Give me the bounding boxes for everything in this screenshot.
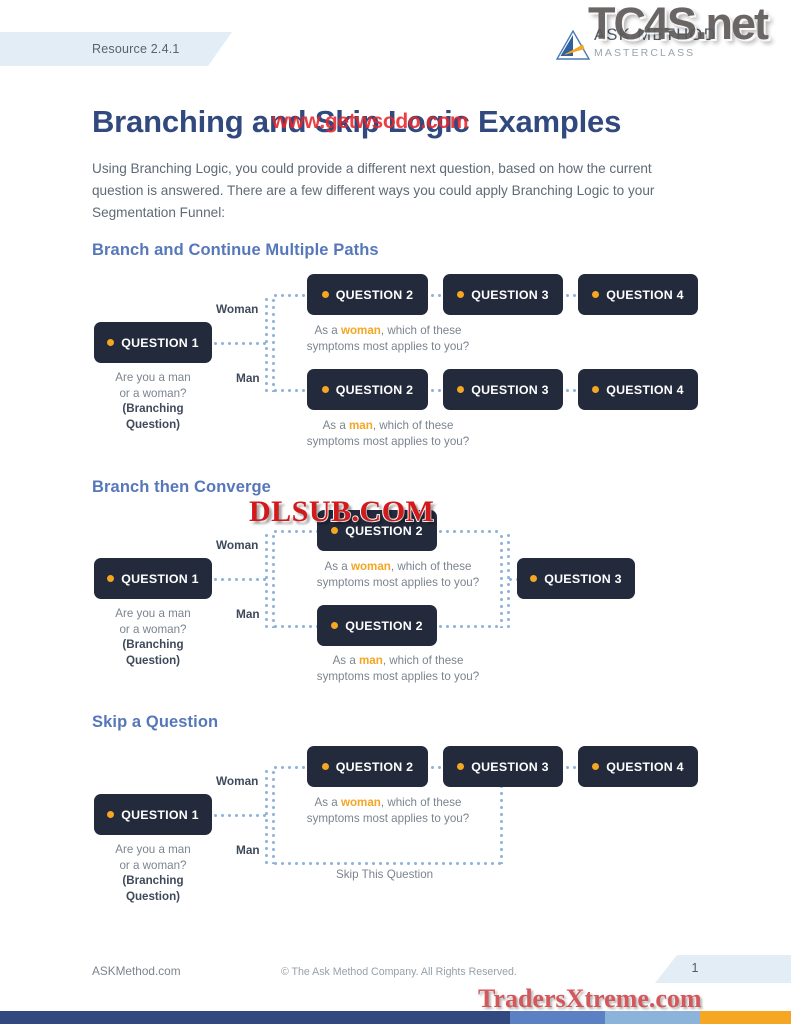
caption-highlight: woman (341, 324, 381, 337)
connector-q1-out-3 (212, 814, 267, 817)
caption-line-2: symptoms most applies to you? (317, 576, 479, 589)
question-box-q4-man-section1[interactable]: QUESTION 4 (578, 369, 698, 410)
question-box-q4-section3[interactable]: QUESTION 4 (578, 746, 698, 787)
connector-man-1 (272, 389, 308, 392)
question-box-q2-section3[interactable]: QUESTION 2 (307, 746, 428, 787)
question-box-label: QUESTION 1 (121, 336, 199, 350)
caption-branching-q1-section2: Are you a man or a woman? (Branching Que… (94, 606, 212, 668)
question-box-label: QUESTION 1 (121, 572, 199, 586)
connector-vertical-split-2 (265, 532, 268, 630)
connector-vertical-merge-2b (507, 532, 510, 630)
connector-q2-q3-3 (429, 766, 443, 769)
bullet-icon (331, 622, 338, 629)
caption-prefix: As a (333, 654, 359, 667)
document-page: Resource 2.4.1 ASK METHOD MASTERCLASS Br… (0, 0, 791, 1024)
connector-man-2 (272, 625, 317, 628)
connector-q2-man-merge-2 (437, 625, 502, 628)
skip-this-question-label: Skip This Question (336, 868, 433, 881)
caption-line-2: symptoms most applies to you? (307, 340, 469, 353)
section-heading-branch-converge: Branch then Converge (92, 478, 271, 497)
bullet-icon (530, 575, 537, 582)
caption-line-2: or a woman? (119, 387, 186, 400)
bullet-icon (322, 386, 329, 393)
bullet-icon (457, 386, 464, 393)
caption-line-2: or a woman? (119, 623, 186, 636)
caption-woman-section3: As a woman, which of these symptoms most… (288, 795, 488, 826)
footer-copyright: © The Ask Method Company. All Rights Res… (281, 966, 517, 978)
caption-line-3: (Branching (122, 638, 183, 651)
connector-q3-q4-man-1 (564, 389, 578, 392)
watermark-title-overlay: www.getwsodo.com (272, 110, 468, 134)
section-heading-skip-question: Skip a Question (92, 713, 218, 732)
question-box-label: QUESTION 2 (336, 760, 414, 774)
caption-line-3: (Branching (122, 402, 183, 415)
question-box-label: QUESTION 1 (121, 808, 199, 822)
connector-q2-q3-man-1 (429, 389, 443, 392)
question-box-label: QUESTION 4 (606, 383, 684, 397)
connector-vertical-split-1b (272, 297, 275, 392)
caption-highlight: woman (341, 796, 381, 809)
connector-skip-path-3 (272, 862, 504, 865)
caption-line-1: Are you a man (115, 843, 190, 856)
bullet-icon (107, 811, 114, 818)
question-box-label: QUESTION 4 (606, 760, 684, 774)
caption-line-4: Question) (126, 418, 180, 431)
question-box-label: QUESTION 3 (471, 760, 549, 774)
caption-line-2: symptoms most applies to you? (307, 435, 469, 448)
footer-site-label: ASKMethod.com (92, 964, 181, 978)
caption-prefix: As a (325, 560, 351, 573)
bullet-icon (457, 763, 464, 770)
question-box-q3-section2[interactable]: QUESTION 3 (517, 558, 635, 599)
bottom-bar-navy (0, 1011, 510, 1024)
caption-line-4: Question) (126, 654, 180, 667)
connector-q1-out-2 (212, 578, 267, 581)
watermark-middle: DLSUB.COM (249, 495, 434, 529)
question-box-q2-woman-section1[interactable]: QUESTION 2 (307, 274, 428, 315)
branch-label-woman-1: Woman (216, 302, 258, 316)
caption-highlight: man (349, 419, 373, 432)
question-box-q3-section3[interactable]: QUESTION 3 (443, 746, 563, 787)
connector-vertical-merge-2 (500, 533, 503, 628)
connector-q3-q4-3 (564, 766, 578, 769)
bullet-icon (107, 339, 114, 346)
caption-suffix: , which of these (381, 324, 462, 337)
question-box-q1-section3[interactable]: QUESTION 1 (94, 794, 212, 835)
branch-label-man-3: Man (236, 843, 260, 857)
connector-vertical-split-3 (265, 768, 268, 866)
connector-q2-woman-merge-2 (437, 530, 502, 533)
section-heading-branch-continue: Branch and Continue Multiple Paths (92, 241, 379, 260)
connector-q1-out-1 (212, 342, 267, 345)
caption-man-section2: As a man, which of these symptoms most a… (298, 653, 498, 684)
caption-line-2: or a woman? (119, 859, 186, 872)
caption-line-1: Are you a man (115, 607, 190, 620)
connector-q2-q3-woman-1 (429, 294, 443, 297)
question-box-q3-woman-section1[interactable]: QUESTION 3 (443, 274, 563, 315)
page-number: 1 (655, 961, 735, 975)
branch-label-man-2: Man (236, 607, 260, 621)
question-box-label: QUESTION 2 (345, 619, 423, 633)
connector-woman-2 (272, 530, 317, 533)
question-box-label: QUESTION 2 (336, 288, 414, 302)
bullet-icon (457, 291, 464, 298)
caption-suffix: , which of these (373, 419, 454, 432)
caption-suffix: , which of these (391, 560, 472, 573)
question-box-q4-woman-section1[interactable]: QUESTION 4 (578, 274, 698, 315)
connector-vertical-split-1 (265, 296, 268, 394)
bottom-bar-orange (700, 1011, 791, 1024)
caption-prefix: As a (323, 419, 349, 432)
connector-woman-3 (272, 766, 308, 769)
caption-line-2: symptoms most applies to you? (307, 812, 469, 825)
intro-paragraph: Using Branching Logic, you could provide… (92, 158, 692, 224)
question-box-q2-man-section2[interactable]: QUESTION 2 (317, 605, 437, 646)
caption-suffix: , which of these (383, 654, 464, 667)
caption-woman-section2: As a woman, which of these symptoms most… (298, 559, 498, 590)
caption-branching-q1-section1: Are you a man or a woman? (Branching Que… (94, 370, 212, 432)
bullet-icon (592, 386, 599, 393)
question-box-q1-section1[interactable]: QUESTION 1 (94, 322, 212, 363)
triangle-logo-icon (556, 30, 590, 60)
bullet-icon (322, 291, 329, 298)
resource-label: Resource 2.4.1 (92, 42, 242, 56)
question-box-q1-section2[interactable]: QUESTION 1 (94, 558, 212, 599)
question-box-q3-man-section1[interactable]: QUESTION 3 (443, 369, 563, 410)
caption-woman-section1: As a woman, which of these symptoms most… (288, 323, 488, 354)
caption-prefix: As a (315, 324, 341, 337)
connector-q3-q4-woman-1 (564, 294, 578, 297)
caption-suffix: , which of these (381, 796, 462, 809)
question-box-q2-man-section1[interactable]: QUESTION 2 (307, 369, 428, 410)
question-box-label: QUESTION 3 (544, 572, 622, 586)
question-box-label: QUESTION 3 (471, 383, 549, 397)
caption-line-1: Are you a man (115, 371, 190, 384)
caption-man-section1: As a man, which of these symptoms most a… (288, 418, 488, 449)
caption-highlight: woman (351, 560, 391, 573)
caption-line-2: symptoms most applies to you? (317, 670, 479, 683)
connector-woman-1 (272, 294, 308, 297)
watermark-top-right: TC4S.net (588, 0, 767, 50)
caption-branching-q1-section3: Are you a man or a woman? (Branching Que… (94, 842, 212, 904)
bullet-icon (592, 291, 599, 298)
question-box-label: QUESTION 3 (471, 288, 549, 302)
watermark-bottom: TradersXtreme.com (478, 984, 702, 1014)
branch-label-woman-2: Woman (216, 538, 258, 552)
question-box-label: QUESTION 2 (336, 383, 414, 397)
connector-vertical-split-2b (272, 533, 275, 628)
branch-label-woman-3: Woman (216, 774, 258, 788)
question-box-label: QUESTION 4 (606, 288, 684, 302)
connector-vertical-split-3b (272, 769, 275, 864)
branch-label-man-1: Man (236, 371, 260, 385)
caption-prefix: As a (315, 796, 341, 809)
caption-line-4: Question) (126, 890, 180, 903)
bullet-icon (322, 763, 329, 770)
bullet-icon (592, 763, 599, 770)
caption-line-3: (Branching (122, 874, 183, 887)
caption-highlight: man (359, 654, 383, 667)
bullet-icon (107, 575, 114, 582)
